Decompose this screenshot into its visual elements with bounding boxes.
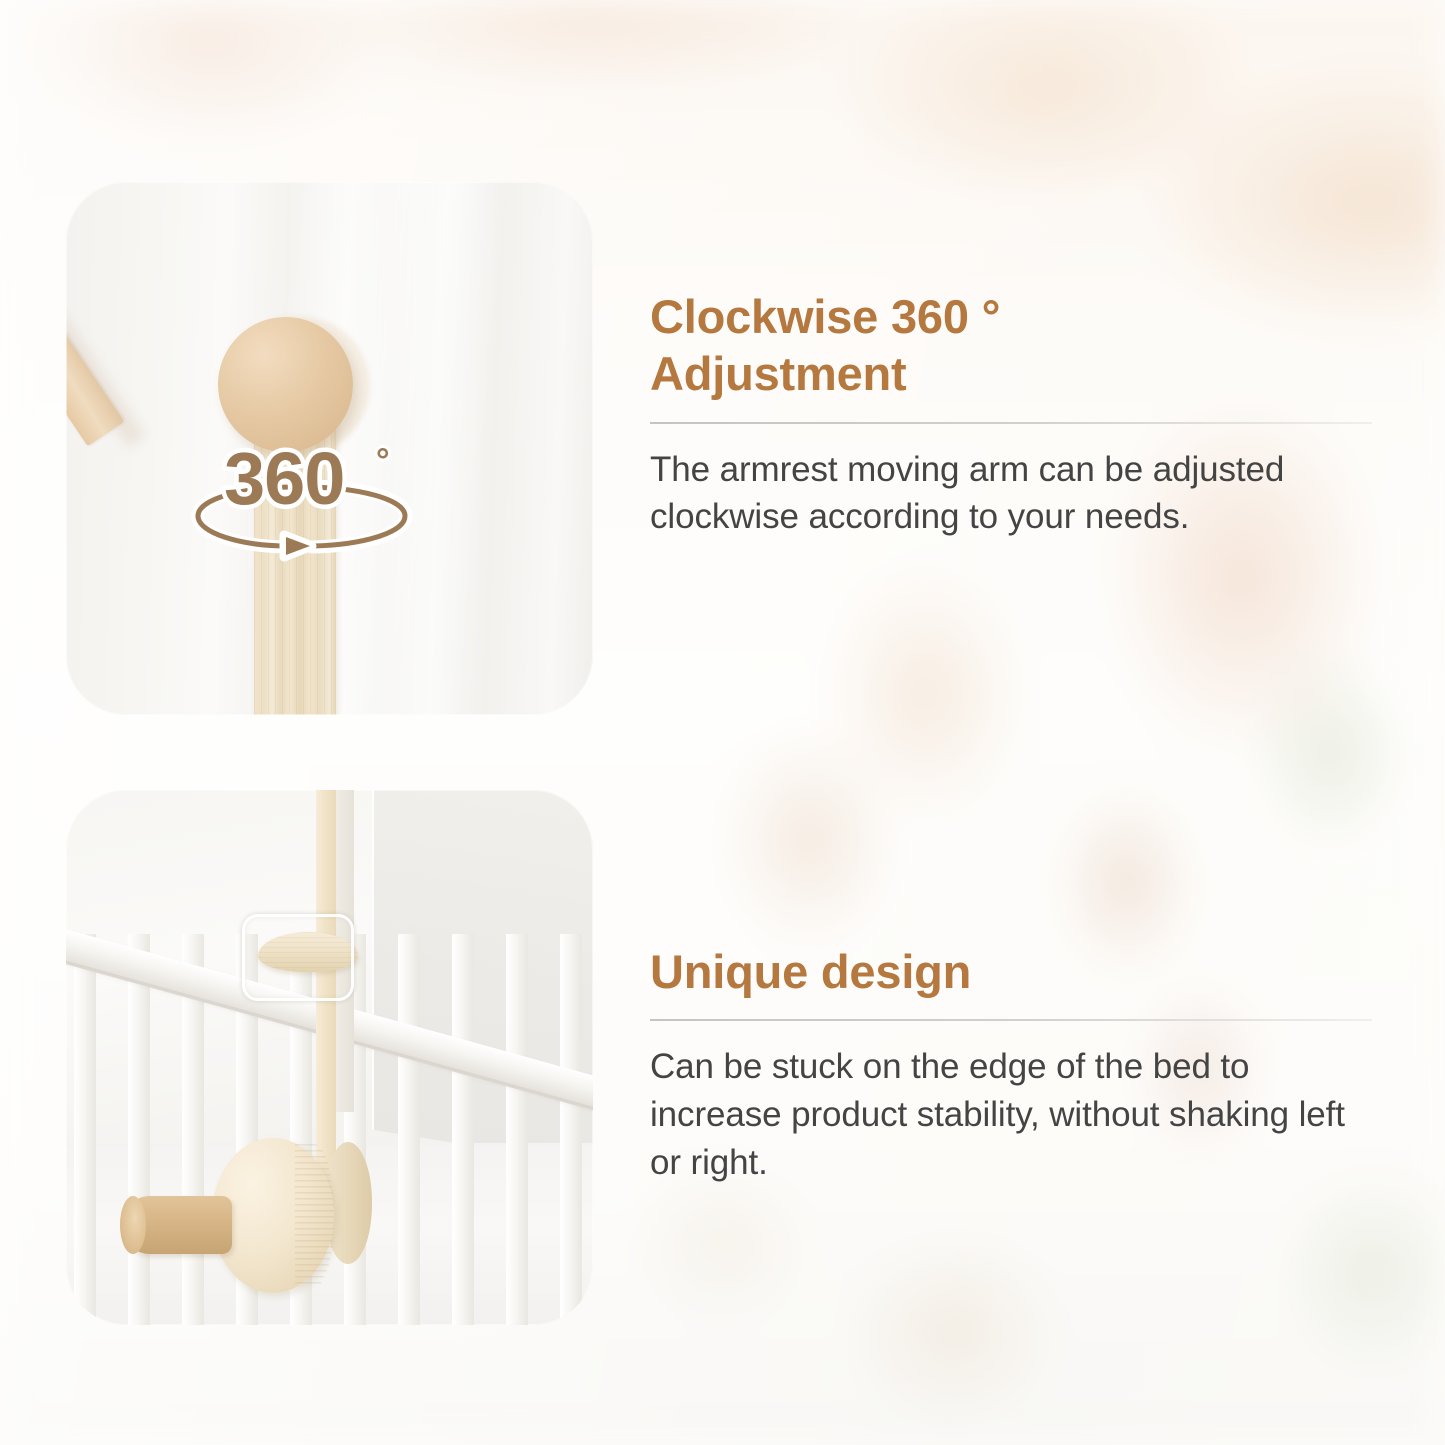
title-divider [650,422,1372,424]
rotation-360-label: 360 [224,437,344,520]
highlight-box [242,914,354,1001]
rotation-360-overlay: 360 ° [184,442,419,557]
wooden-peg [122,1196,232,1254]
crib-rail-clamp-photo-content [66,790,593,1325]
crib-slat [560,934,582,1325]
feature-body: Can be stuck on the edge of the bed to i… [650,1043,1375,1186]
crib-slat [398,934,420,1325]
crib-slat [74,934,96,1325]
infographic-page: 360 ° [0,0,1445,1445]
feature-title-line2: Adjustment [650,347,907,400]
wooden-pivot-disc [218,317,353,452]
crib-slat [452,934,474,1325]
crib-slat [506,934,528,1325]
crib-slat [128,934,150,1325]
title-divider [650,1019,1372,1021]
feature-title: Unique design [650,943,1375,1000]
feature-block-unique-design: Unique design Can be stuck on the edge o… [650,943,1375,1186]
pivot-joint-photo-content: 360 ° [66,182,593,715]
feature-title-line1: Clockwise 360 ° [650,290,1000,343]
feature-block-clockwise-360: Clockwise 360 °Adjustment The armrest mo… [650,288,1375,541]
degree-symbol: ° [376,442,390,480]
feature-body: The armrest moving arm can be adjusted c… [650,446,1375,541]
feature-title: Clockwise 360 °Adjustment [650,288,1375,403]
crib-rail-clamp-photo [66,790,593,1325]
pivot-joint-photo: 360 ° [66,182,593,715]
